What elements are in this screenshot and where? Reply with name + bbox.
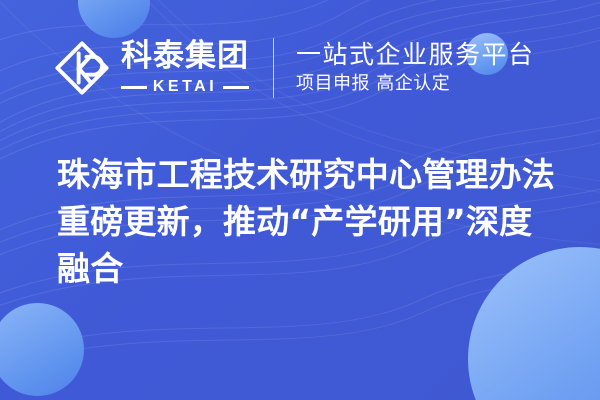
brand-rule-right [223, 86, 249, 89]
brand-name-en: KETAI [153, 79, 217, 95]
circle-bottom-left [0, 303, 84, 396]
tagline-block: 一站式企业服务平台 项目申报 高企认定 [296, 42, 535, 93]
headline-title: 珠海市工程技术研究中心管理办法重磅更新，推动“产学研用”深度融合 [57, 152, 557, 293]
promo-banner: 科泰集团 KETAI 一站式企业服务平台 项目申报 高企认定 珠海市工程技术研究… [0, 0, 600, 400]
tagline-sub: 项目申报 高企认定 [296, 75, 535, 94]
brand-name-en-row: KETAI [121, 79, 249, 95]
brand-name-cn: 科泰集团 [121, 41, 249, 72]
brand-lockup: 科泰集团 KETAI [54, 40, 249, 96]
ketai-diamond-kp-logo-icon [54, 40, 110, 96]
banner-header: 科泰集团 KETAI 一站式企业服务平台 项目申报 高企认定 [0, 0, 600, 136]
brand-text-block: 科泰集团 KETAI [121, 41, 249, 95]
tagline-main: 一站式企业服务平台 [296, 42, 535, 68]
brand-rule-left [121, 86, 147, 89]
header-divider [273, 38, 274, 98]
